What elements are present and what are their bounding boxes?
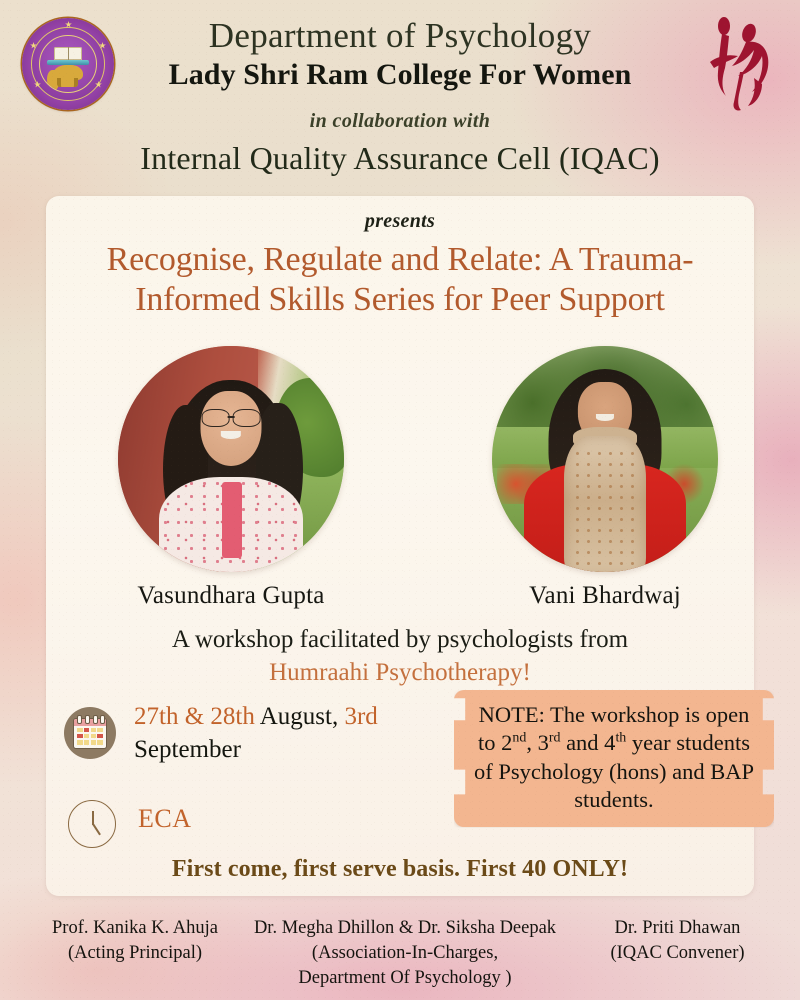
presents-label: presents xyxy=(46,210,754,233)
note-sup-rd: rd xyxy=(549,731,561,746)
calendar-rings xyxy=(74,715,106,721)
photo-smile xyxy=(596,414,614,421)
speaker-name-1: Vasundhara Gupta xyxy=(101,582,361,610)
note-mid2: and 4 xyxy=(560,730,615,755)
photo-face xyxy=(200,391,261,466)
facilitator-line-1: A workshop facilitated by psychologists … xyxy=(46,626,754,654)
footer-association-incharges: Dr. Megha Dhillon & Dr. Siksha Deepak (A… xyxy=(245,916,565,991)
clock-icon xyxy=(68,800,116,848)
footer-principal: Prof. Kanika K. Ahuja (Acting Principal) xyxy=(20,916,250,966)
footer-incharge-role: (Association-In-Charges, xyxy=(312,943,498,963)
event-date-day3: 3rd xyxy=(344,703,377,730)
event-venue-time-label: ECA xyxy=(138,804,192,834)
college-title: Lady Shri Ram College For Women xyxy=(0,58,800,92)
photo-smile xyxy=(221,431,241,439)
poster-footer: Prof. Kanika K. Ahuja (Acting Principal)… xyxy=(0,908,800,1000)
calendar-day-grid xyxy=(77,728,103,745)
photo-patterned-scarf xyxy=(564,436,645,572)
footer-convener-name: Dr. Priti Dhawan xyxy=(615,918,741,938)
calendar-icon xyxy=(64,707,116,759)
poster-canvas: Department of Psychology Lady Shri Ram C… xyxy=(0,0,800,1000)
footer-principal-name: Prof. Kanika K. Ahuja xyxy=(52,918,218,938)
event-date-days: 27th & 28th xyxy=(134,703,255,730)
event-date-month2: September xyxy=(134,736,241,763)
footer-principal-role: (Acting Principal) xyxy=(68,943,202,963)
footer-convener-role: (IQAC Convener) xyxy=(610,943,744,963)
event-date-month: August, xyxy=(255,703,345,730)
speaker-name-2: Vani Bhardwaj xyxy=(475,582,735,610)
poster-header: Department of Psychology Lady Shri Ram C… xyxy=(0,0,800,195)
note-mid1: , 3 xyxy=(526,730,549,755)
speaker-photo-vani-bhardwaj xyxy=(492,346,718,572)
photo-eyeglasses xyxy=(202,409,261,425)
main-content-card: presents Recognise, Regulate and Relate:… xyxy=(46,196,754,896)
event-date-text: 27th & 28th August, 3rd September xyxy=(134,701,434,766)
speaker-photo-vasundhara-gupta xyxy=(118,346,344,572)
footer-iqac-convener: Dr. Priti Dhawan (IQAC Convener) xyxy=(570,916,785,966)
iqac-title: Internal Quality Assurance Cell (IQAC) xyxy=(0,140,800,177)
event-title-line2: Informed Skills Series for Peer Support xyxy=(135,281,665,318)
note-sup-th: th xyxy=(615,731,626,746)
event-title-line1: Recognise, Regulate and Relate: A Trauma… xyxy=(107,241,694,278)
department-title: Department of Psychology xyxy=(0,16,800,56)
eligibility-note: NOTE: The workshop is open to 2nd, 3rd a… xyxy=(454,690,774,827)
event-title: Recognise, Regulate and Relate: A Trauma… xyxy=(62,240,738,320)
footer-incharge-names: Dr. Megha Dhillon & Dr. Siksha Deepak xyxy=(254,918,556,938)
photo-kurta-placket xyxy=(222,482,242,559)
calendar-paper xyxy=(74,719,106,748)
first-come-notice: First come, first serve basis. First 40 … xyxy=(46,856,754,883)
footer-incharge-dept: Department Of Psychology ) xyxy=(298,968,511,988)
note-sup-nd: nd xyxy=(512,731,526,746)
collaboration-label: in collaboration with xyxy=(0,110,800,133)
facilitator-org-name: Humraahi Psychotherapy! xyxy=(46,659,754,687)
